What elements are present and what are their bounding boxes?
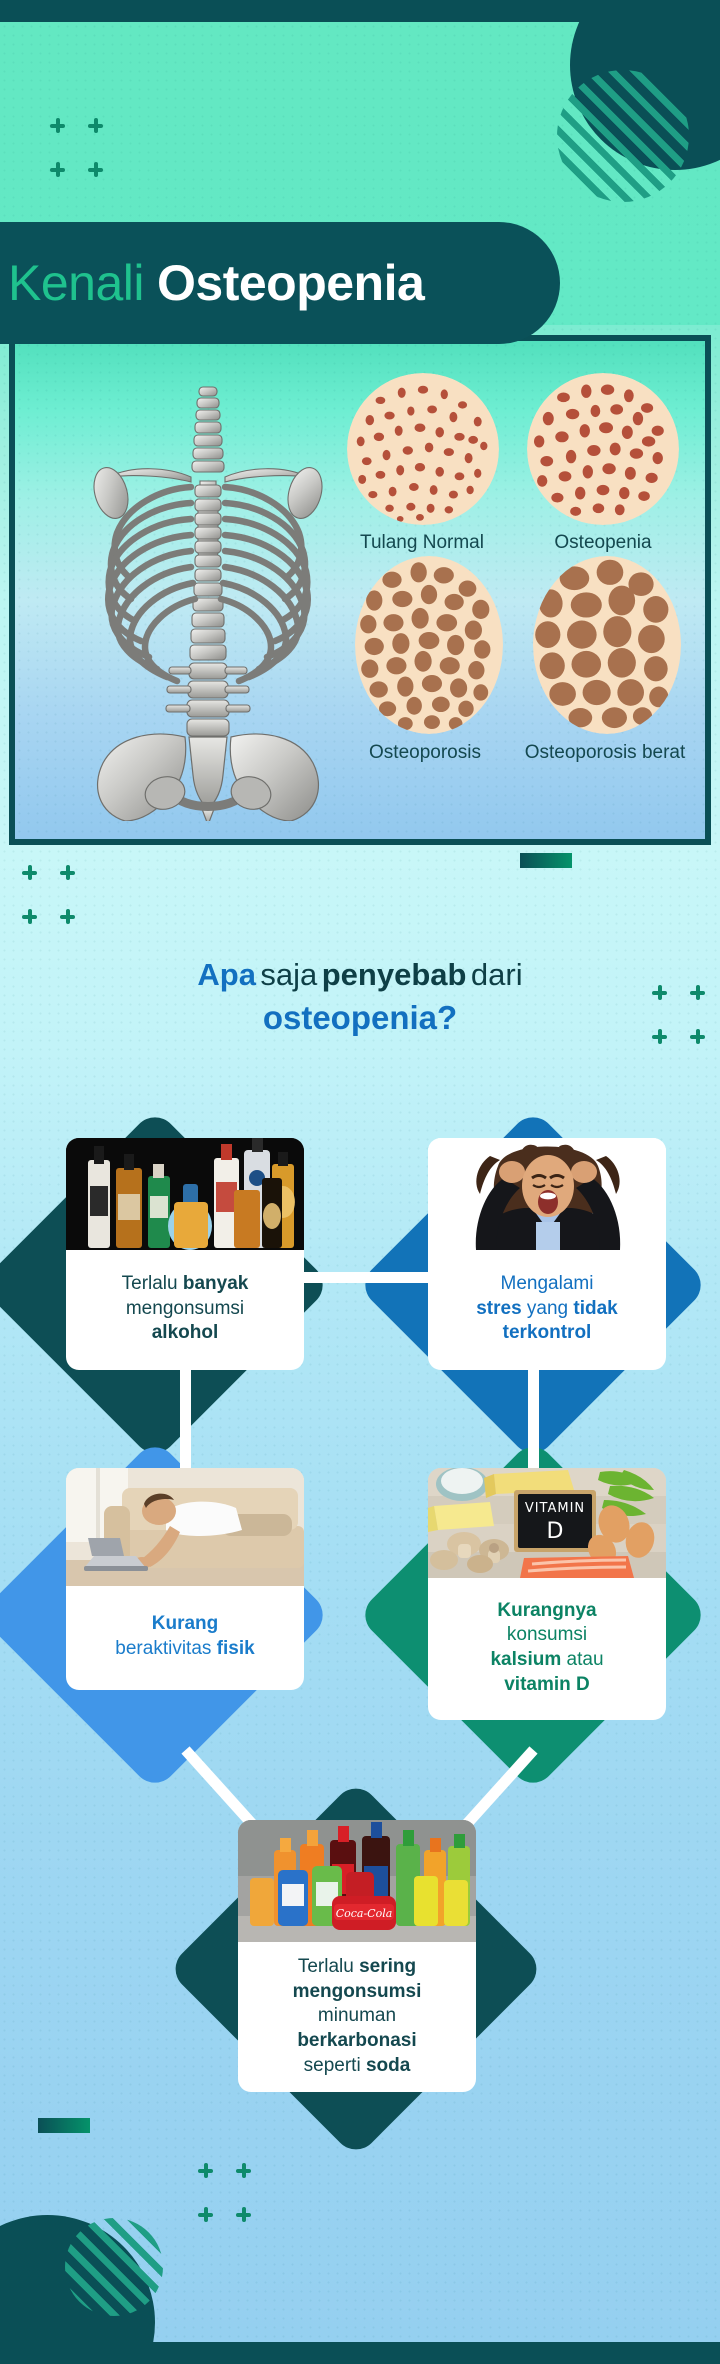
stressed-woman-photo	[428, 1138, 666, 1250]
bone-label-normal: Tulang Normal	[337, 531, 507, 555]
bone-label-osteoporosis-severe: Osteoporosis berat	[513, 741, 697, 765]
decor-minibar-mid	[520, 853, 572, 868]
cause-card-kalsium-label: Kurangnyakonsumsikalsium atauvitamin D	[438, 1599, 656, 1698]
cause-card-soda-text: Terlalu seringmengonsumsiminumanberkarbo…	[238, 1942, 476, 2092]
svg-text:D: D	[547, 1519, 564, 1544]
bone-label-osteoporosis: Osteoporosis	[335, 741, 515, 765]
header-title-light: Kenali	[8, 254, 144, 312]
decor-plus-group-top	[50, 118, 112, 180]
bone-label-osteoporosis-line1: Osteoporosis	[369, 742, 481, 763]
bone-label-normal-line2: Normal	[423, 532, 484, 553]
header-banner: Kenali Osteopenia	[0, 222, 560, 344]
cause-card-alkohol-label: Terlalu banyakmengonsumsialkohol	[76, 1272, 294, 1346]
decor-minibar-bottom	[38, 2118, 90, 2133]
cause-card-kalsium-text: Kurangnyakonsumsikalsium atauvitamin D	[428, 1578, 666, 1720]
svg-text:Coca-Cola: Coca-Cola	[336, 1907, 393, 1920]
bone-label-osteopenia: Osteopenia	[517, 531, 689, 555]
question-line-1: Apa saja penyebab dari	[0, 955, 720, 996]
svg-text:VITAMIN: VITAMIN	[525, 1501, 585, 1516]
bone-density-circle-osteoporosis-severe	[533, 556, 681, 734]
bone-label-osteoporosis-severe-line2: berat	[642, 742, 685, 763]
question-heading: Apa saja penyebab dari osteopenia?	[0, 955, 720, 1039]
bone-label-normal-line1: Tulang	[360, 532, 417, 553]
decor-circle-striped-top	[557, 70, 689, 202]
cause-card-alkohol[interactable]: Terlalu banyakmengonsumsialkohol	[66, 1138, 304, 1370]
cause-card-soda[interactable]: Coca-Cola Terlalu seringmengonsumsiminum…	[238, 1820, 476, 2092]
cause-card-soda-label: Terlalu seringmengonsumsiminumanberkarbo…	[248, 1955, 466, 2078]
cause-card-fisik-label: Kurangberaktivitas fisik	[76, 1612, 294, 1661]
bottom-band	[0, 2342, 720, 2364]
question-word-osteopenia: osteopenia?	[263, 999, 457, 1036]
vitamin-d-foods-photo: VITAMIN D	[428, 1468, 666, 1578]
decor-plus-group-bottom	[198, 2163, 260, 2225]
cause-card-stres[interactable]: Mengalamistres yang tidakterkontrol	[428, 1138, 666, 1370]
cause-card-alkohol-text: Terlalu banyakmengonsumsialkohol	[66, 1250, 304, 1370]
cause-card-stres-label: Mengalamistres yang tidakterkontrol	[438, 1272, 656, 1346]
bone-label-osteopenia-line1: Osteopenia	[554, 532, 651, 553]
cause-card-kalsium[interactable]: VITAMIN D	[428, 1468, 666, 1720]
skeleton-illustration	[73, 381, 343, 821]
alcohol-bottles-photo	[66, 1138, 304, 1250]
question-line-2: osteopenia?	[0, 996, 720, 1040]
question-word-penyebab: penyebab	[322, 957, 467, 992]
cause-card-stres-text: Mengalamistres yang tidakterkontrol	[428, 1250, 666, 1370]
top-band	[0, 0, 720, 22]
bone-density-circle-osteopenia	[527, 373, 679, 525]
soda-bottles-photo: Coca-Cola	[238, 1820, 476, 1942]
cause-card-fisik-text: Kurangberaktivitas fisik	[66, 1586, 304, 1690]
question-word-dari: dari	[471, 957, 523, 992]
decor-plus-group-mid-left	[22, 865, 84, 927]
decor-circle-striped-bottom	[65, 2218, 163, 2316]
cause-card-fisik[interactable]: Kurangberaktivitas fisik	[66, 1468, 304, 1690]
question-word-apa: Apa	[197, 957, 256, 992]
header-title-bold: Osteopenia	[157, 254, 424, 312]
infographic-page: Kenali Osteopenia	[0, 0, 720, 2364]
bone-label-osteoporosis-severe-line1: Osteoporosis	[525, 742, 637, 763]
question-word-saja: saja	[260, 957, 317, 992]
bone-density-circle-osteoporosis	[355, 556, 503, 734]
man-lying-couch-laptop-photo	[66, 1468, 304, 1586]
bone-comparison-figure: Tulang Normal Osteopenia Osteoporosis Os…	[9, 335, 711, 845]
bone-density-circle-normal	[347, 373, 499, 525]
